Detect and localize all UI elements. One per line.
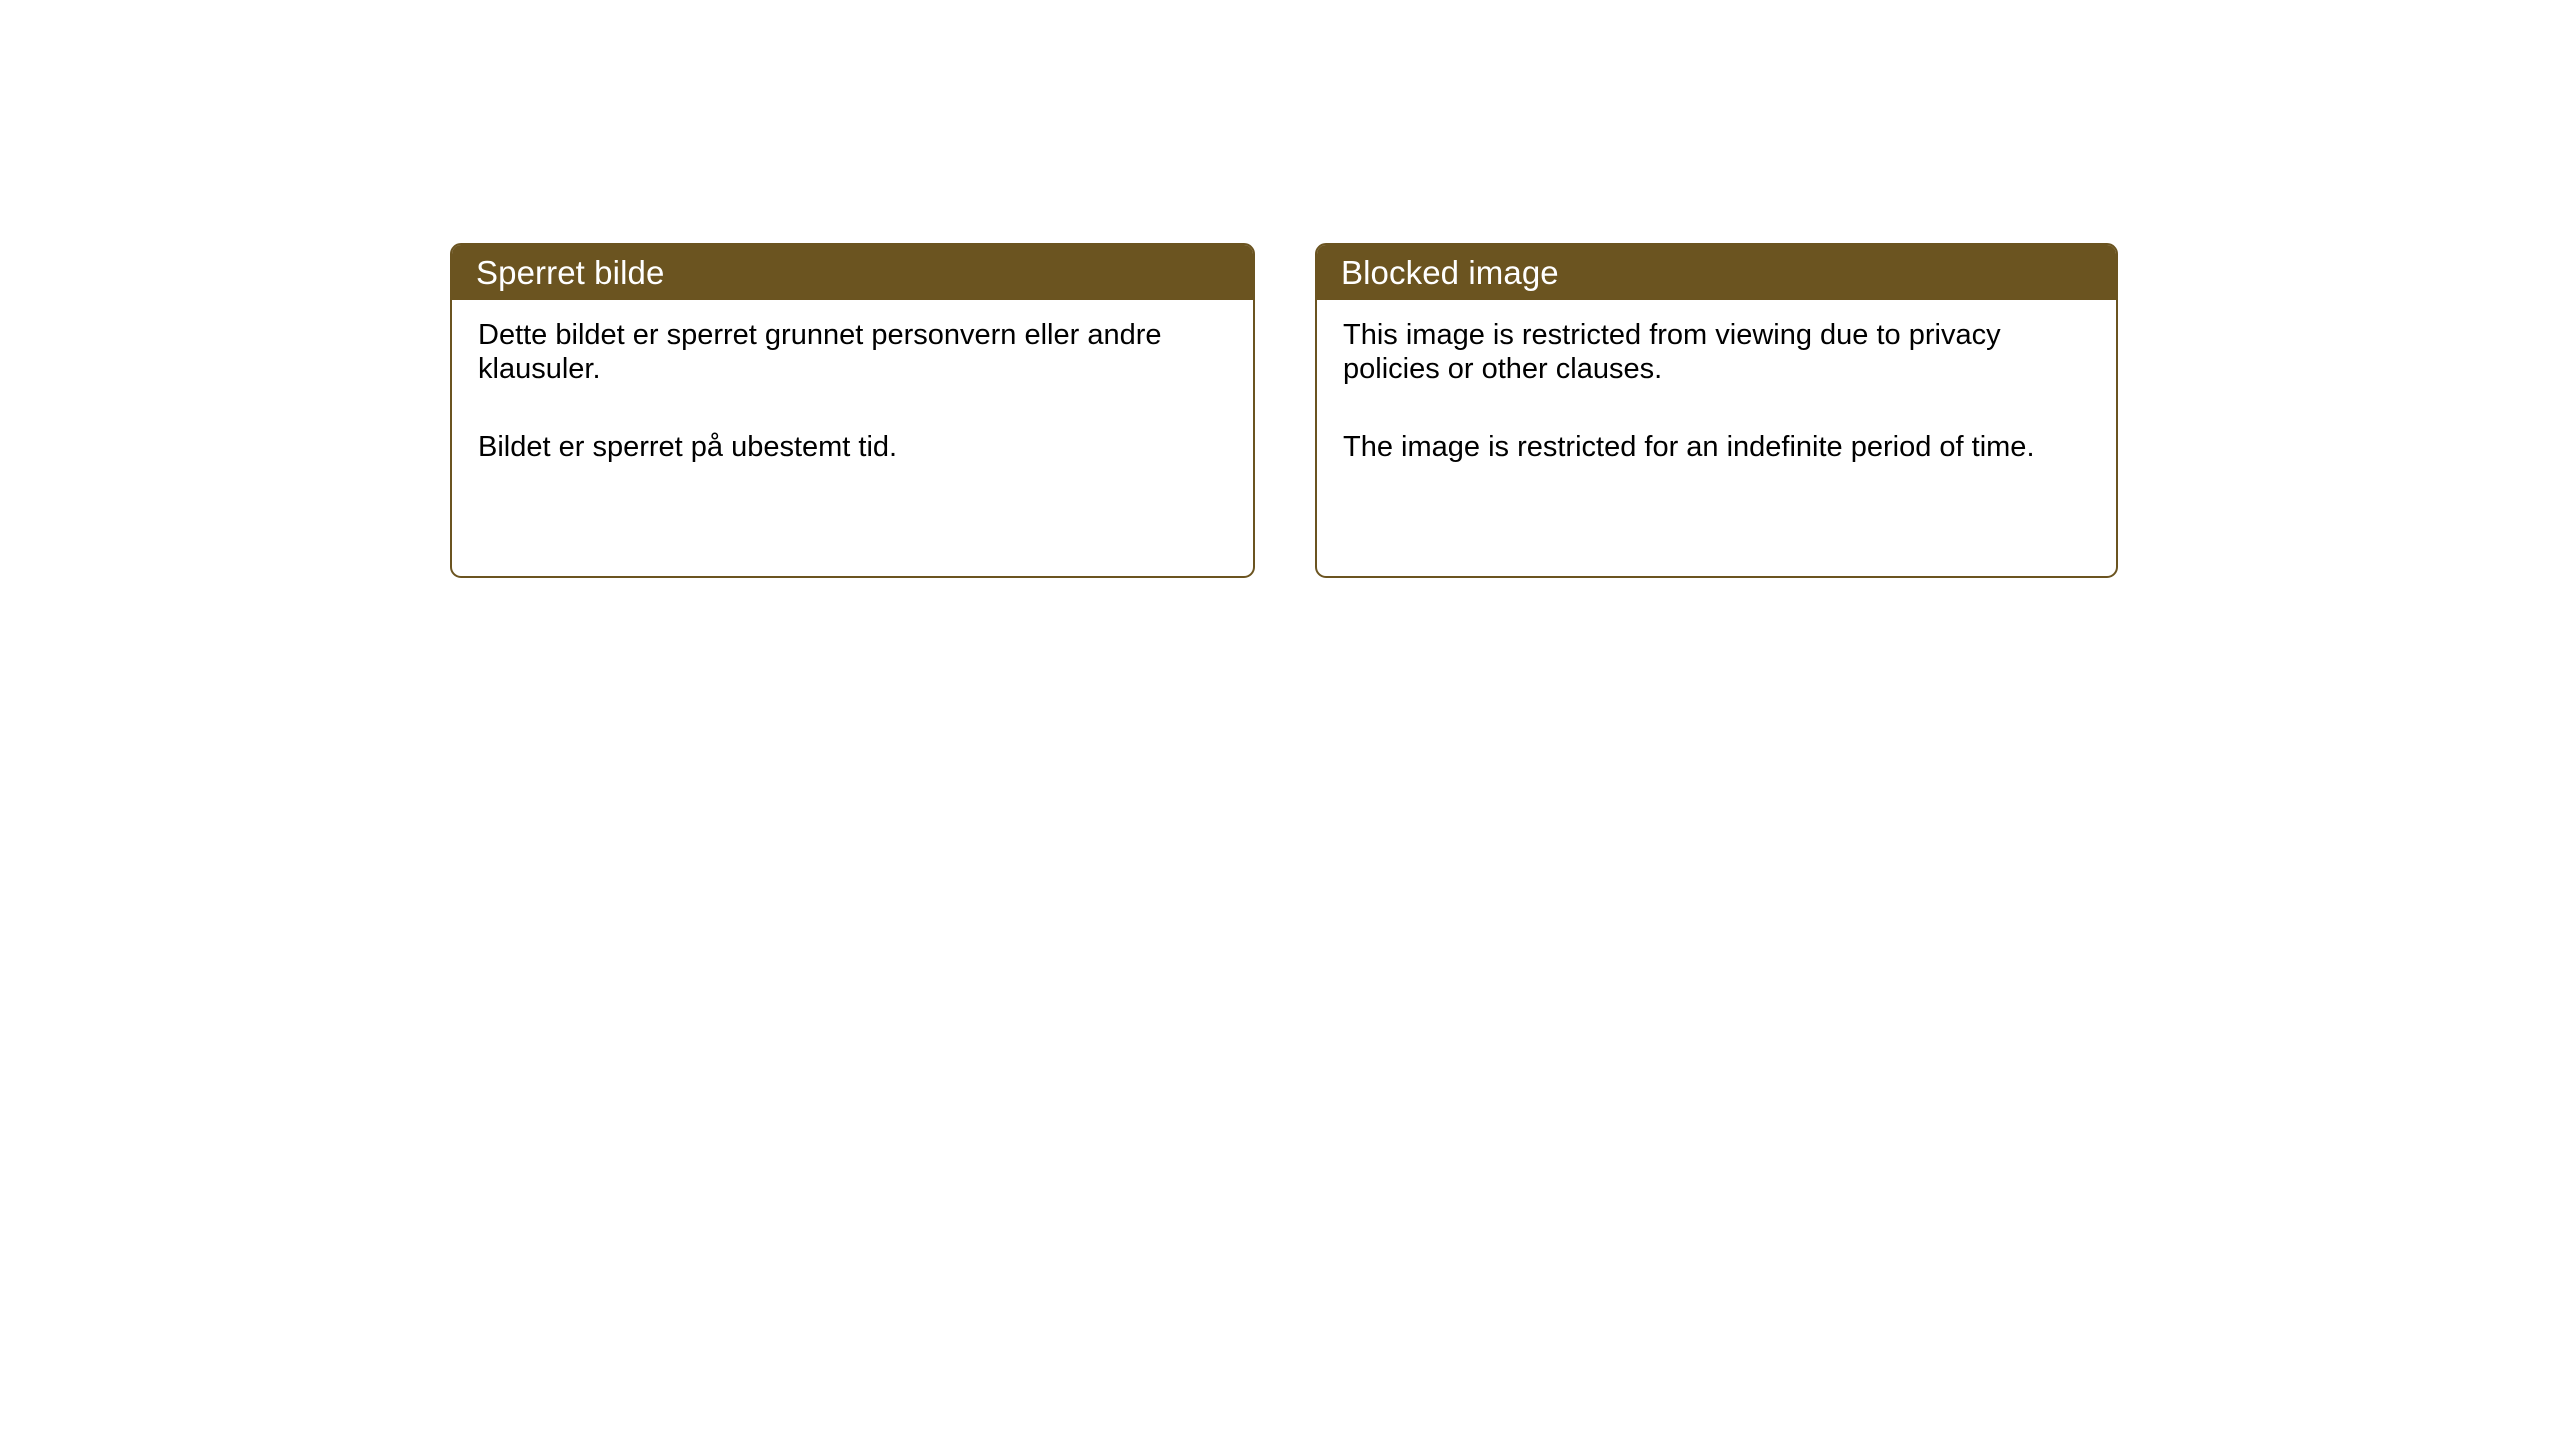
blocked-image-notice-card-english: Blocked image This image is restricted f… (1315, 243, 2118, 578)
card-header-english: Blocked image (1317, 245, 2116, 300)
card-paragraph-duration-english: The image is restricted for an indefinit… (1343, 430, 2043, 464)
card-title-norwegian: Sperret bilde (476, 254, 664, 292)
card-title-english: Blocked image (1341, 254, 1559, 292)
card-header-norwegian: Sperret bilde (452, 245, 1253, 300)
blocked-image-notice-card-norwegian: Sperret bilde Dette bildet er sperret gr… (450, 243, 1255, 578)
card-paragraph-duration-norwegian: Bildet er sperret på ubestemt tid. (478, 430, 1178, 464)
card-paragraph-reason-english: This image is restricted from viewing du… (1343, 318, 2043, 386)
page-canvas: Sperret bilde Dette bildet er sperret gr… (0, 0, 2560, 1440)
card-paragraph-reason-norwegian: Dette bildet er sperret grunnet personve… (478, 318, 1178, 386)
card-body-english: This image is restricted from viewing du… (1317, 300, 2116, 464)
card-body-norwegian: Dette bildet er sperret grunnet personve… (452, 300, 1253, 464)
